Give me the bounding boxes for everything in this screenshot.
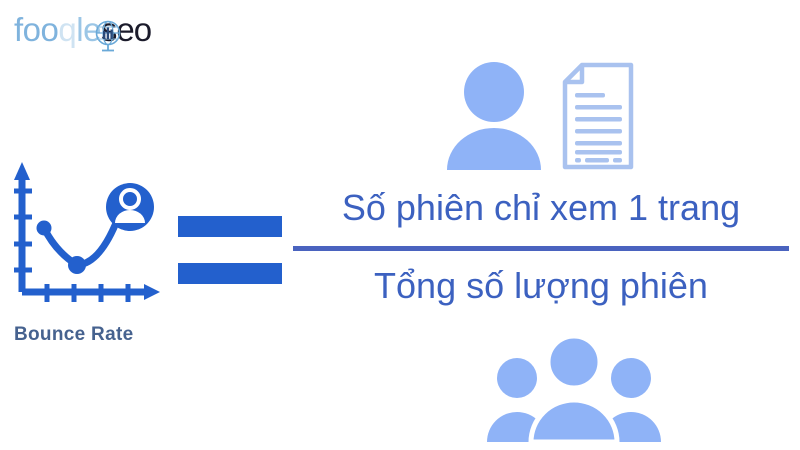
bounce-rate-formula: Số phiên chỉ xem 1 trang Tổng số lượng p…	[293, 182, 789, 324]
group-person-left-head	[497, 358, 537, 398]
brand-logo[interactable]: fooqleseo	[14, 8, 214, 52]
chart-x-axis-arrow	[144, 284, 160, 300]
equals-bar-bottom	[178, 263, 282, 284]
line-chart-with-user-icon	[8, 160, 168, 310]
group-person-center-body	[531, 400, 617, 442]
document-page-icon	[562, 62, 634, 170]
formula-numerator: Số phiên chỉ xem 1 trang	[293, 182, 789, 234]
equals-sign	[178, 216, 282, 284]
chart-y-axis-arrow	[14, 162, 30, 180]
brand-logo-text: fooqleseo	[14, 8, 151, 52]
group-of-people-icon	[484, 334, 664, 444]
group-person-right-head	[611, 358, 651, 398]
equals-bar-top	[178, 216, 282, 237]
chart-point-low	[68, 256, 86, 274]
globe-chart-icon	[92, 19, 124, 53]
fraction-divider-bar	[293, 246, 789, 251]
group-person-center-head	[548, 336, 600, 388]
bounce-rate-label: Bounce Rate	[14, 324, 133, 346]
chart-point-start	[37, 221, 52, 236]
logo-text-segment-2: q	[58, 11, 76, 48]
logo-text-segment-1: foo	[14, 11, 58, 48]
single-person-icon	[443, 60, 545, 170]
formula-denominator: Tổng số lượng phiên	[293, 260, 789, 312]
